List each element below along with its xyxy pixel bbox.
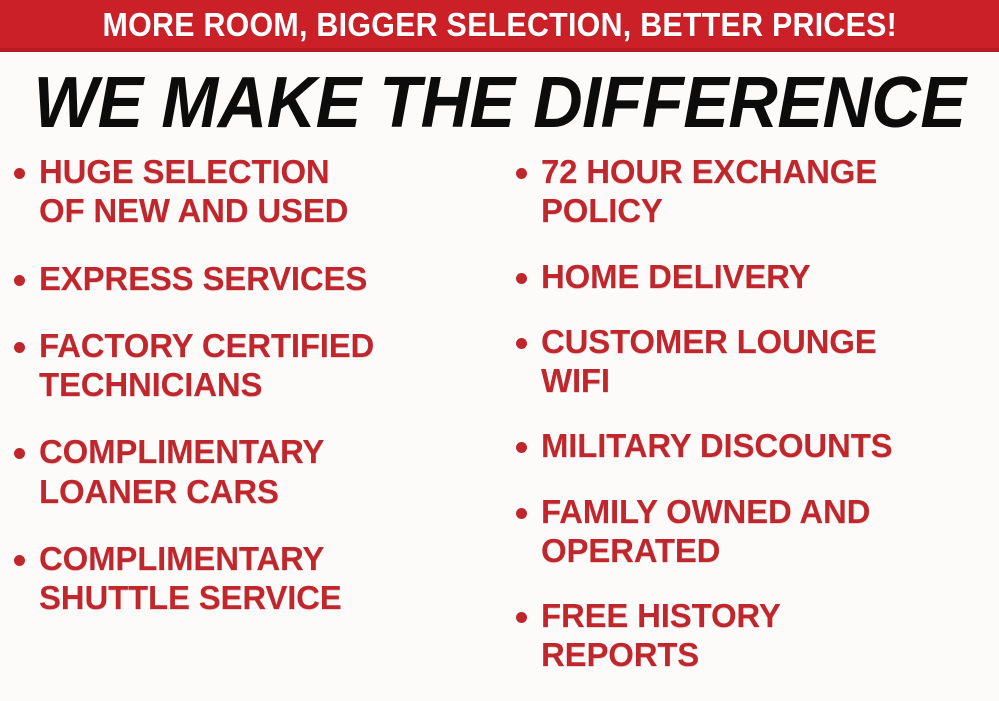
bullet-dot-icon: [516, 442, 527, 453]
benefits-column-right: 72 HOUR EXCHANGE POLICY HOME DELIVERY CU…: [516, 152, 999, 701]
benefits-columns: HUGE SELECTION OF NEW AND USED EXPRESS S…: [0, 152, 999, 692]
list-item: 72 HOUR EXCHANGE POLICY: [516, 152, 999, 231]
list-item: EXPRESS SERVICES: [14, 259, 494, 298]
promo-banner: MORE ROOM, BIGGER SELECTION, BETTER PRIC…: [0, 0, 999, 52]
bullet-dot-icon: [516, 168, 527, 179]
list-item-label: COMPLIMENTARY LOANER CARS: [39, 432, 324, 511]
list-item-label: FREE HISTORY REPORTS: [541, 596, 781, 675]
list-item-label: MILITARY DISCOUNTS: [541, 426, 892, 465]
promo-banner-text: MORE ROOM, BIGGER SELECTION, BETTER PRIC…: [102, 8, 897, 41]
list-item: FREE HISTORY REPORTS: [516, 596, 999, 675]
bullet-dot-icon: [516, 508, 527, 519]
list-item-label: 72 HOUR EXCHANGE POLICY: [541, 152, 877, 231]
bullet-dot-icon: [14, 555, 25, 566]
bullet-dot-icon: [14, 448, 25, 459]
bullet-dot-icon: [516, 612, 527, 623]
list-item-label: HOME DELIVERY: [541, 257, 810, 296]
bullet-dot-icon: [14, 342, 25, 353]
list-item-label: COMPLIMENTARY SHUTTLE SERVICE: [39, 539, 342, 618]
bullet-dot-icon: [516, 273, 527, 284]
bullet-dot-icon: [516, 338, 527, 349]
list-item: FAMILY OWNED AND OPERATED: [516, 492, 999, 571]
list-item-label: FAMILY OWNED AND OPERATED: [541, 492, 870, 571]
list-item: HUGE SELECTION OF NEW AND USED: [14, 152, 494, 231]
list-item: COMPLIMENTARY LOANER CARS: [14, 432, 494, 511]
list-item: HOME DELIVERY: [516, 257, 999, 296]
bullet-dot-icon: [14, 275, 25, 286]
list-item: COMPLIMENTARY SHUTTLE SERVICE: [14, 539, 494, 618]
list-item-label: CUSTOMER LOUNGE WIFI: [541, 322, 877, 401]
list-item-label: FACTORY CERTIFIED TECHNICIANS: [39, 326, 374, 405]
list-item: MILITARY DISCOUNTS: [516, 426, 999, 465]
list-item-label: HUGE SELECTION OF NEW AND USED: [39, 152, 348, 231]
headline-container: WE MAKE THE DIFFERENCE: [0, 62, 999, 144]
list-item: CUSTOMER LOUNGE WIFI: [516, 322, 999, 401]
bullet-dot-icon: [14, 168, 25, 179]
list-item-label: EXPRESS SERVICES: [39, 259, 367, 298]
list-item: FACTORY CERTIFIED TECHNICIANS: [14, 326, 494, 405]
page-title: WE MAKE THE DIFFERENCE: [34, 67, 966, 139]
benefits-column-left: HUGE SELECTION OF NEW AND USED EXPRESS S…: [14, 152, 494, 645]
